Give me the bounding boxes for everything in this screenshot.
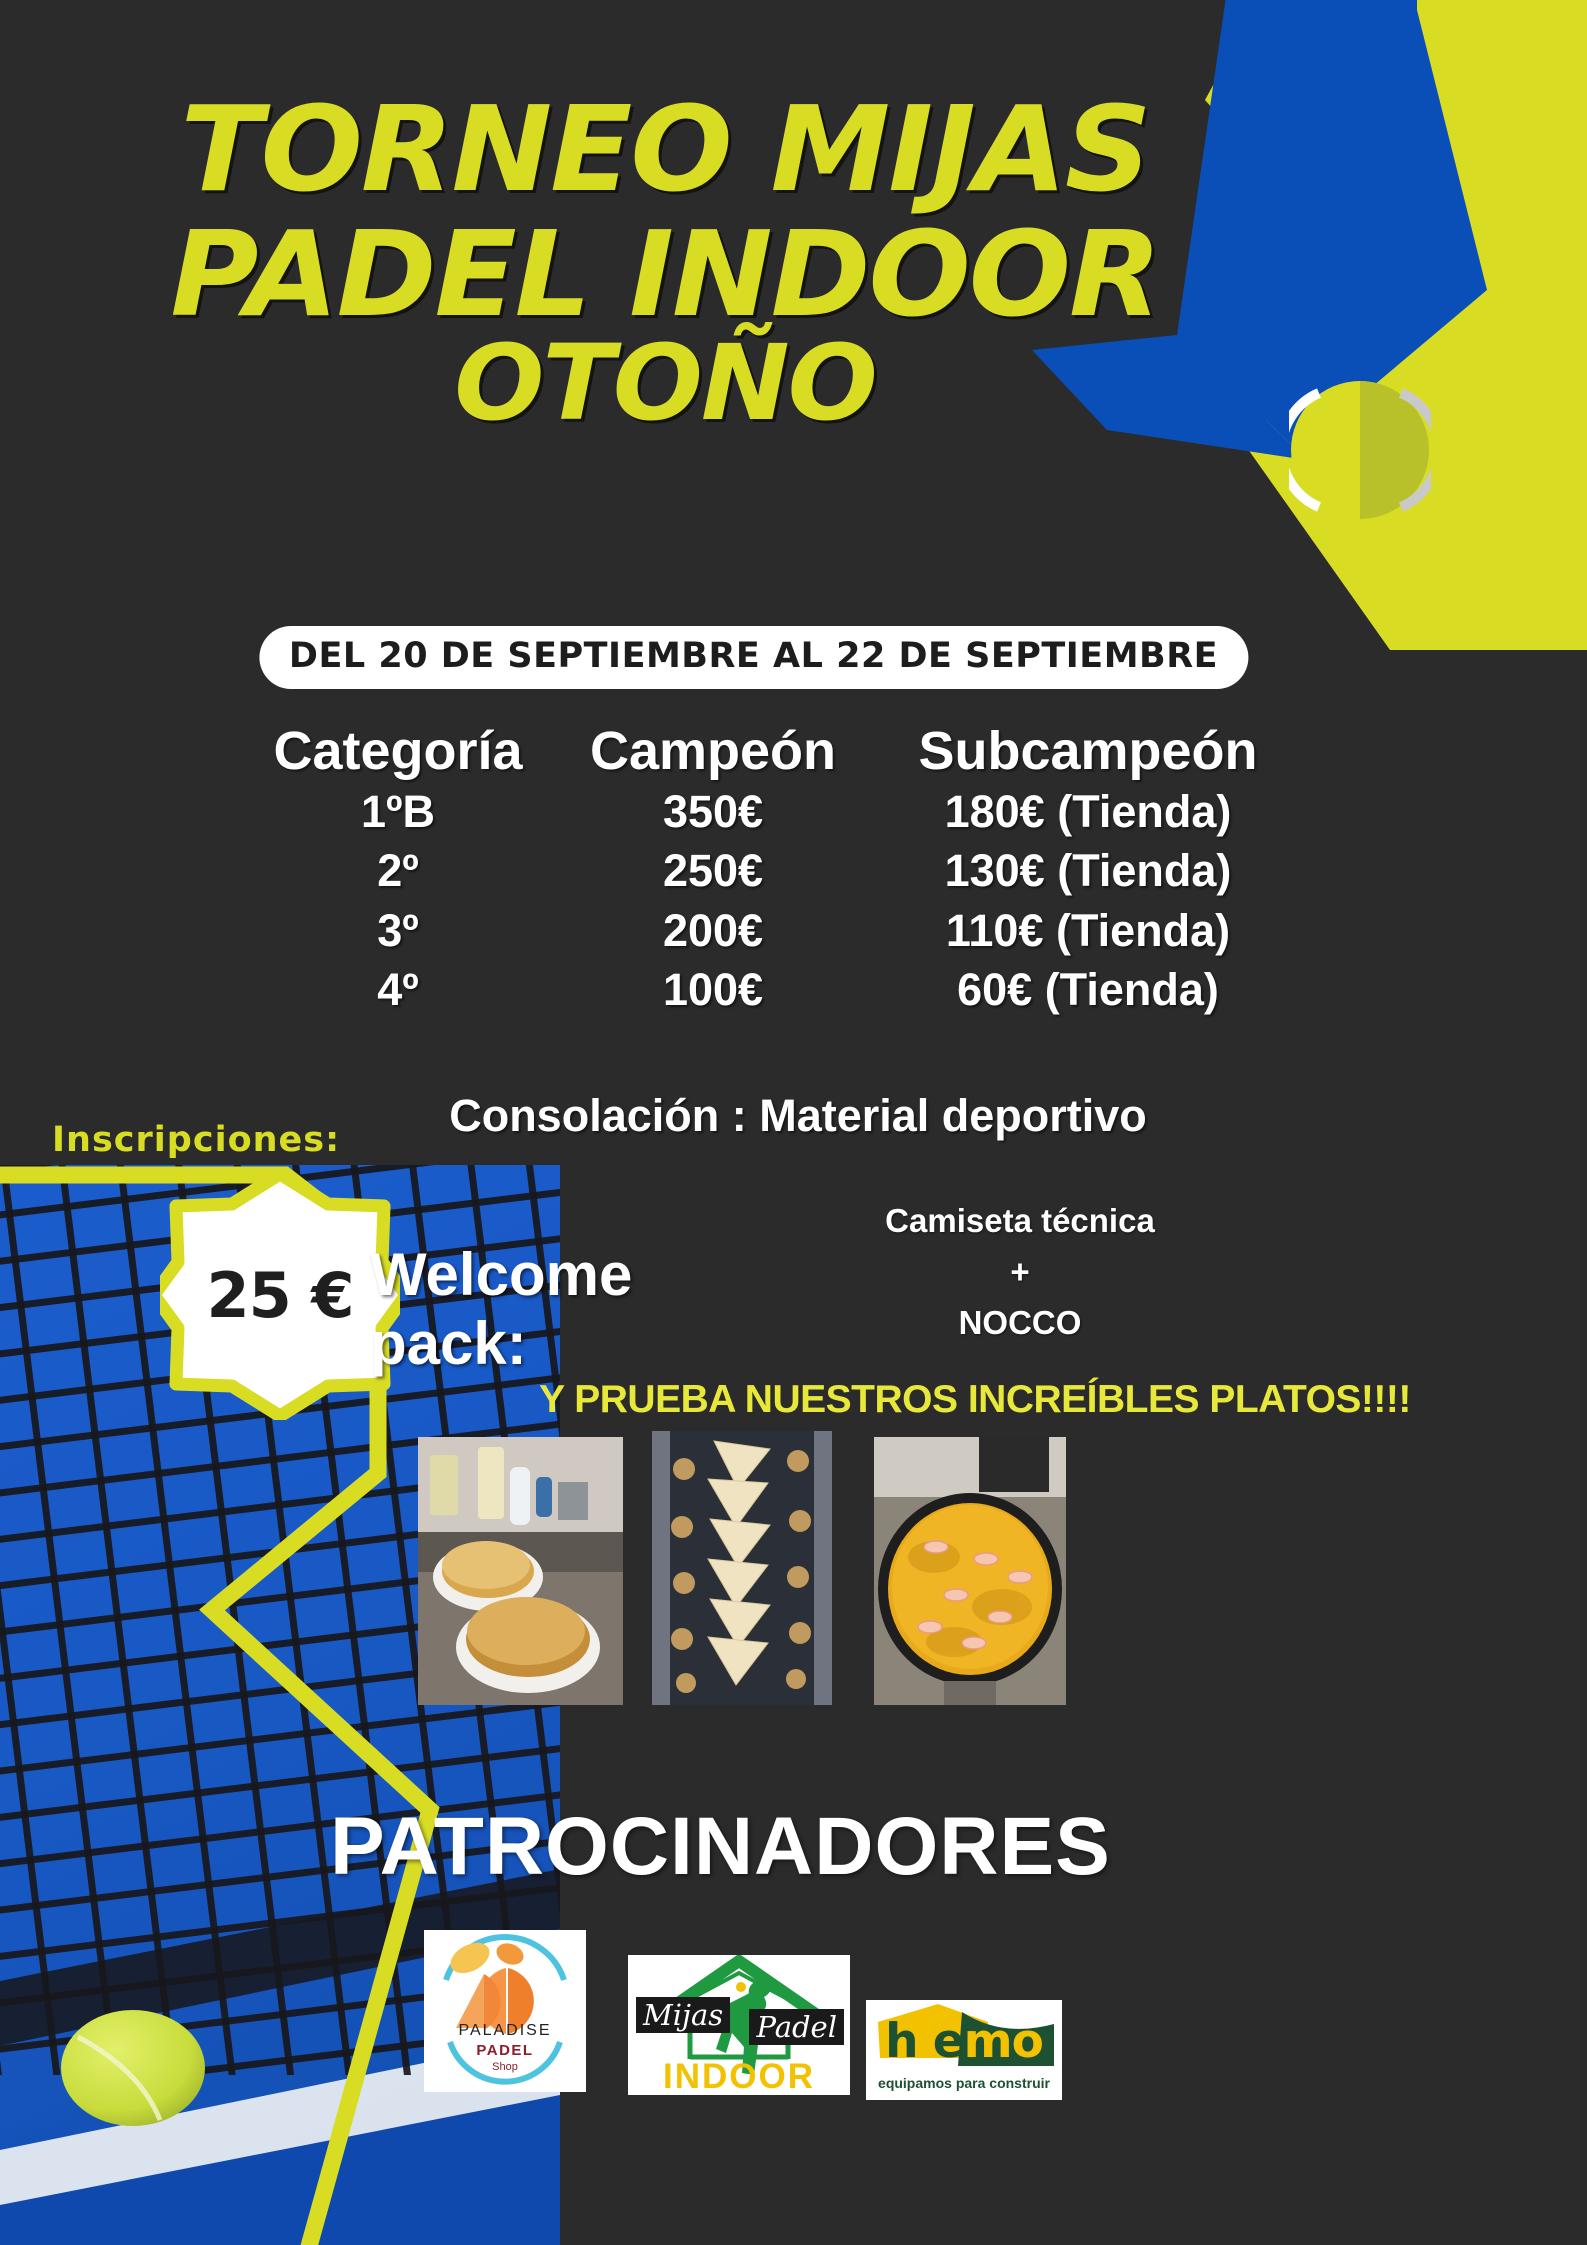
table-header-subcampeon: Subcampeón: [868, 720, 1308, 782]
welcome-pack-item-1: Camiseta técnica: [760, 1195, 1280, 1246]
tortilla-espanola-photo: [418, 1437, 623, 1705]
poster-canvas: TORNEO MIJAS PADEL INDOOR OTOÑO DEL 20 D…: [0, 0, 1587, 2245]
registration-label: Inscripciones:: [52, 1120, 340, 1160]
cheese-and-walnuts-platter-photo: [652, 1431, 832, 1705]
padel-word: Padel: [749, 2009, 844, 2045]
table-row: 3º 200€ 110€ (Tienda): [238, 901, 1308, 960]
sponsor-logo-hiemo: hiemo equipamos para construir: [866, 2000, 1062, 2100]
table-row: 2º 250€ 130€ (Tienda): [238, 841, 1308, 900]
cell-campeon: 100€: [558, 960, 868, 1019]
table-header-categoria: Categoría: [238, 720, 558, 782]
table-header-campeon: Campeón: [558, 720, 868, 782]
cell-categoria: 2º: [238, 841, 558, 900]
mijas-word: Mijas: [636, 1997, 730, 2033]
consolation-prize-text: Consolación : Material deportivo: [238, 1090, 1358, 1142]
sponsor-logo-paladise-padel-shop: PALADISE PADEL Shop: [424, 1930, 586, 2092]
sponsor-logo-mijas-padel-indoor: Mijas Padel INDOOR: [628, 1955, 850, 2095]
registration-price-badge: 25 €: [160, 1170, 400, 1420]
paladise-line-1: PALADISE: [424, 2022, 586, 2040]
cell-categoria: 4º: [238, 960, 558, 1019]
hiemo-tagline: equipamos para construir: [866, 2075, 1062, 2091]
table-row: 1ºB 350€ 180€ (Tienda): [238, 782, 1308, 841]
title-line-2: PADEL INDOOR: [0, 220, 1343, 329]
table-row: 4º 100€ 60€ (Tienda): [238, 960, 1308, 1019]
paella-pan-photo: [874, 1437, 1066, 1705]
welcome-pack-title: Welcome pack:: [370, 1240, 770, 1378]
cell-subcampeon: 110€ (Tienda): [868, 901, 1308, 960]
prize-table: Categoría Campeón Subcampeón 1ºB 350€ 18…: [238, 720, 1308, 1020]
indoor-word: INDOOR: [628, 2057, 850, 2095]
registration-price-text: 25 €: [160, 1170, 400, 1420]
date-banner: DEL 20 DE SEPTIEMBRE AL 22 DE SEPTIEMBRE: [259, 626, 1248, 689]
title-line-3: OTOÑO: [0, 336, 1343, 432]
cell-subcampeon: 180€ (Tienda): [868, 782, 1308, 841]
welcome-pack-item-2: NOCCO: [760, 1297, 1280, 1348]
cell-subcampeon: 60€ (Tienda): [868, 960, 1308, 1019]
cell-campeon: 200€: [558, 901, 868, 960]
sponsors-heading: PATROCINADORES: [330, 1800, 1390, 1894]
poster-title: TORNEO MIJAS PADEL INDOOR OTOÑO: [0, 95, 1330, 432]
food-promo-headline: Y PRUEBA NUESTROS INCREÍBLES PLATOS!!!!: [380, 1378, 1570, 1422]
cell-categoria: 3º: [238, 901, 558, 960]
table-header-row: Categoría Campeón Subcampeón: [238, 720, 1308, 782]
cell-campeon: 250€: [558, 841, 868, 900]
paladise-line-3: Shop: [424, 2061, 586, 2073]
cell-categoria: 1ºB: [238, 782, 558, 841]
cell-campeon: 350€: [558, 782, 868, 841]
welcome-pack-items: Camiseta técnica + NOCCO: [760, 1195, 1280, 1348]
title-line-1: TORNEO MIJAS: [0, 95, 1343, 204]
cell-subcampeon: 130€ (Tienda): [868, 841, 1308, 900]
welcome-pack-plus: +: [760, 1246, 1280, 1297]
hiemo-wordmark: hiemo: [866, 2014, 1062, 2069]
paladise-line-2: PADEL: [424, 2042, 586, 2059]
